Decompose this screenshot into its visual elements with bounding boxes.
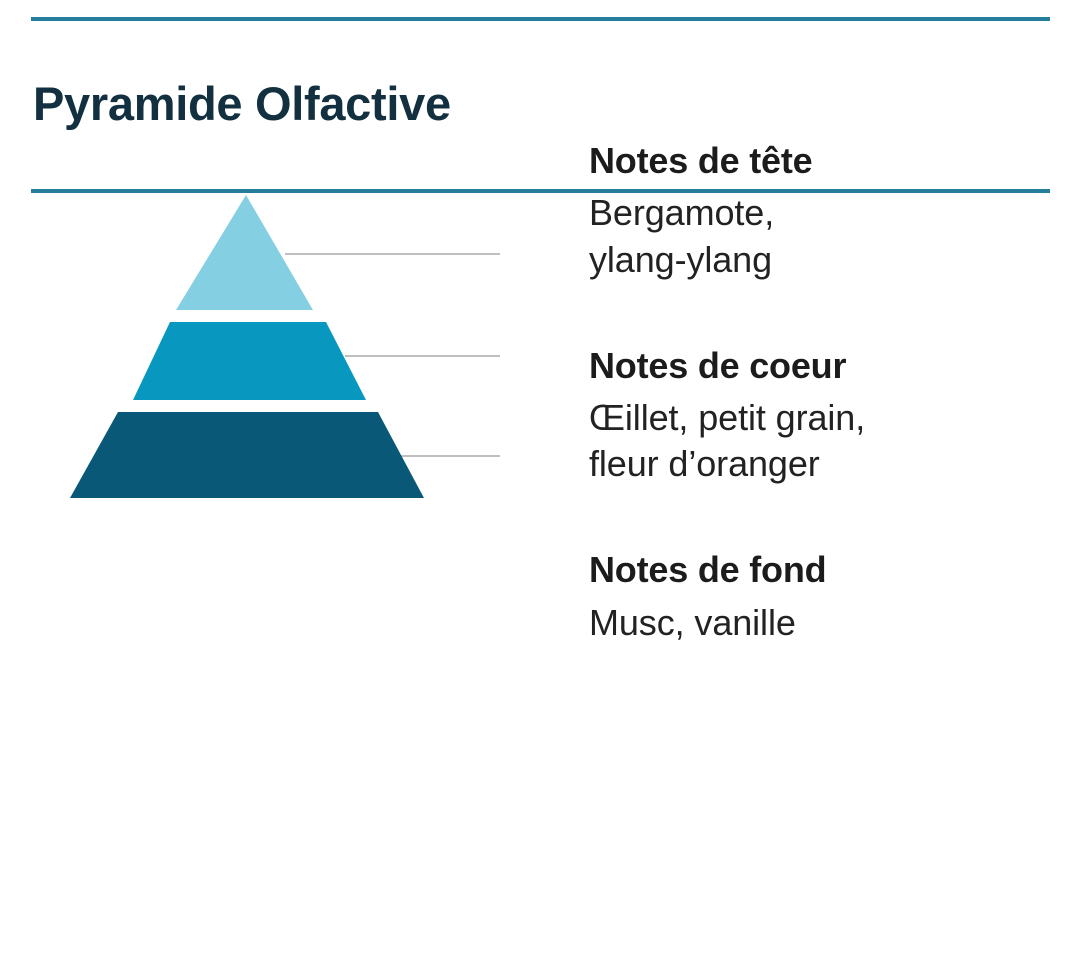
note-heading-middle: Notes de coeur xyxy=(589,345,1059,387)
note-line: fleur d’oranger xyxy=(589,441,1059,487)
pyramid-tier-bottom[interactable] xyxy=(70,412,424,498)
olfactive-pyramid-chart xyxy=(0,140,560,560)
note-line: Œillet, petit grain, xyxy=(589,395,1059,441)
note-heading-top: Notes de tête xyxy=(589,140,1059,182)
pyramid-tier-middle[interactable] xyxy=(133,322,366,400)
main-content: Notes de tête Bergamote, ylang-ylang Not… xyxy=(0,140,1080,964)
note-line: Musc, vanille xyxy=(589,600,1059,646)
pyramid-svg xyxy=(0,140,560,560)
pyramid-tier-top[interactable] xyxy=(176,195,313,310)
note-block-middle: Notes de coeur Œillet, petit grain, fleu… xyxy=(589,345,1059,488)
note-heading-bottom: Notes de fond xyxy=(589,549,1059,591)
note-block-bottom: Notes de fond Musc, vanille xyxy=(589,549,1059,646)
note-line: Bergamote, xyxy=(589,190,1059,236)
note-body-top: Bergamote, ylang-ylang xyxy=(589,190,1059,282)
note-body-middle: Œillet, petit grain, fleur d’oranger xyxy=(589,395,1059,487)
note-body-bottom: Musc, vanille xyxy=(589,600,1059,646)
note-block-top: Notes de tête Bergamote, ylang-ylang xyxy=(589,140,1059,283)
note-line: ylang-ylang xyxy=(589,237,1059,283)
header-rule-top xyxy=(31,17,1050,21)
notes-column: Notes de tête Bergamote, ylang-ylang Not… xyxy=(589,140,1059,646)
